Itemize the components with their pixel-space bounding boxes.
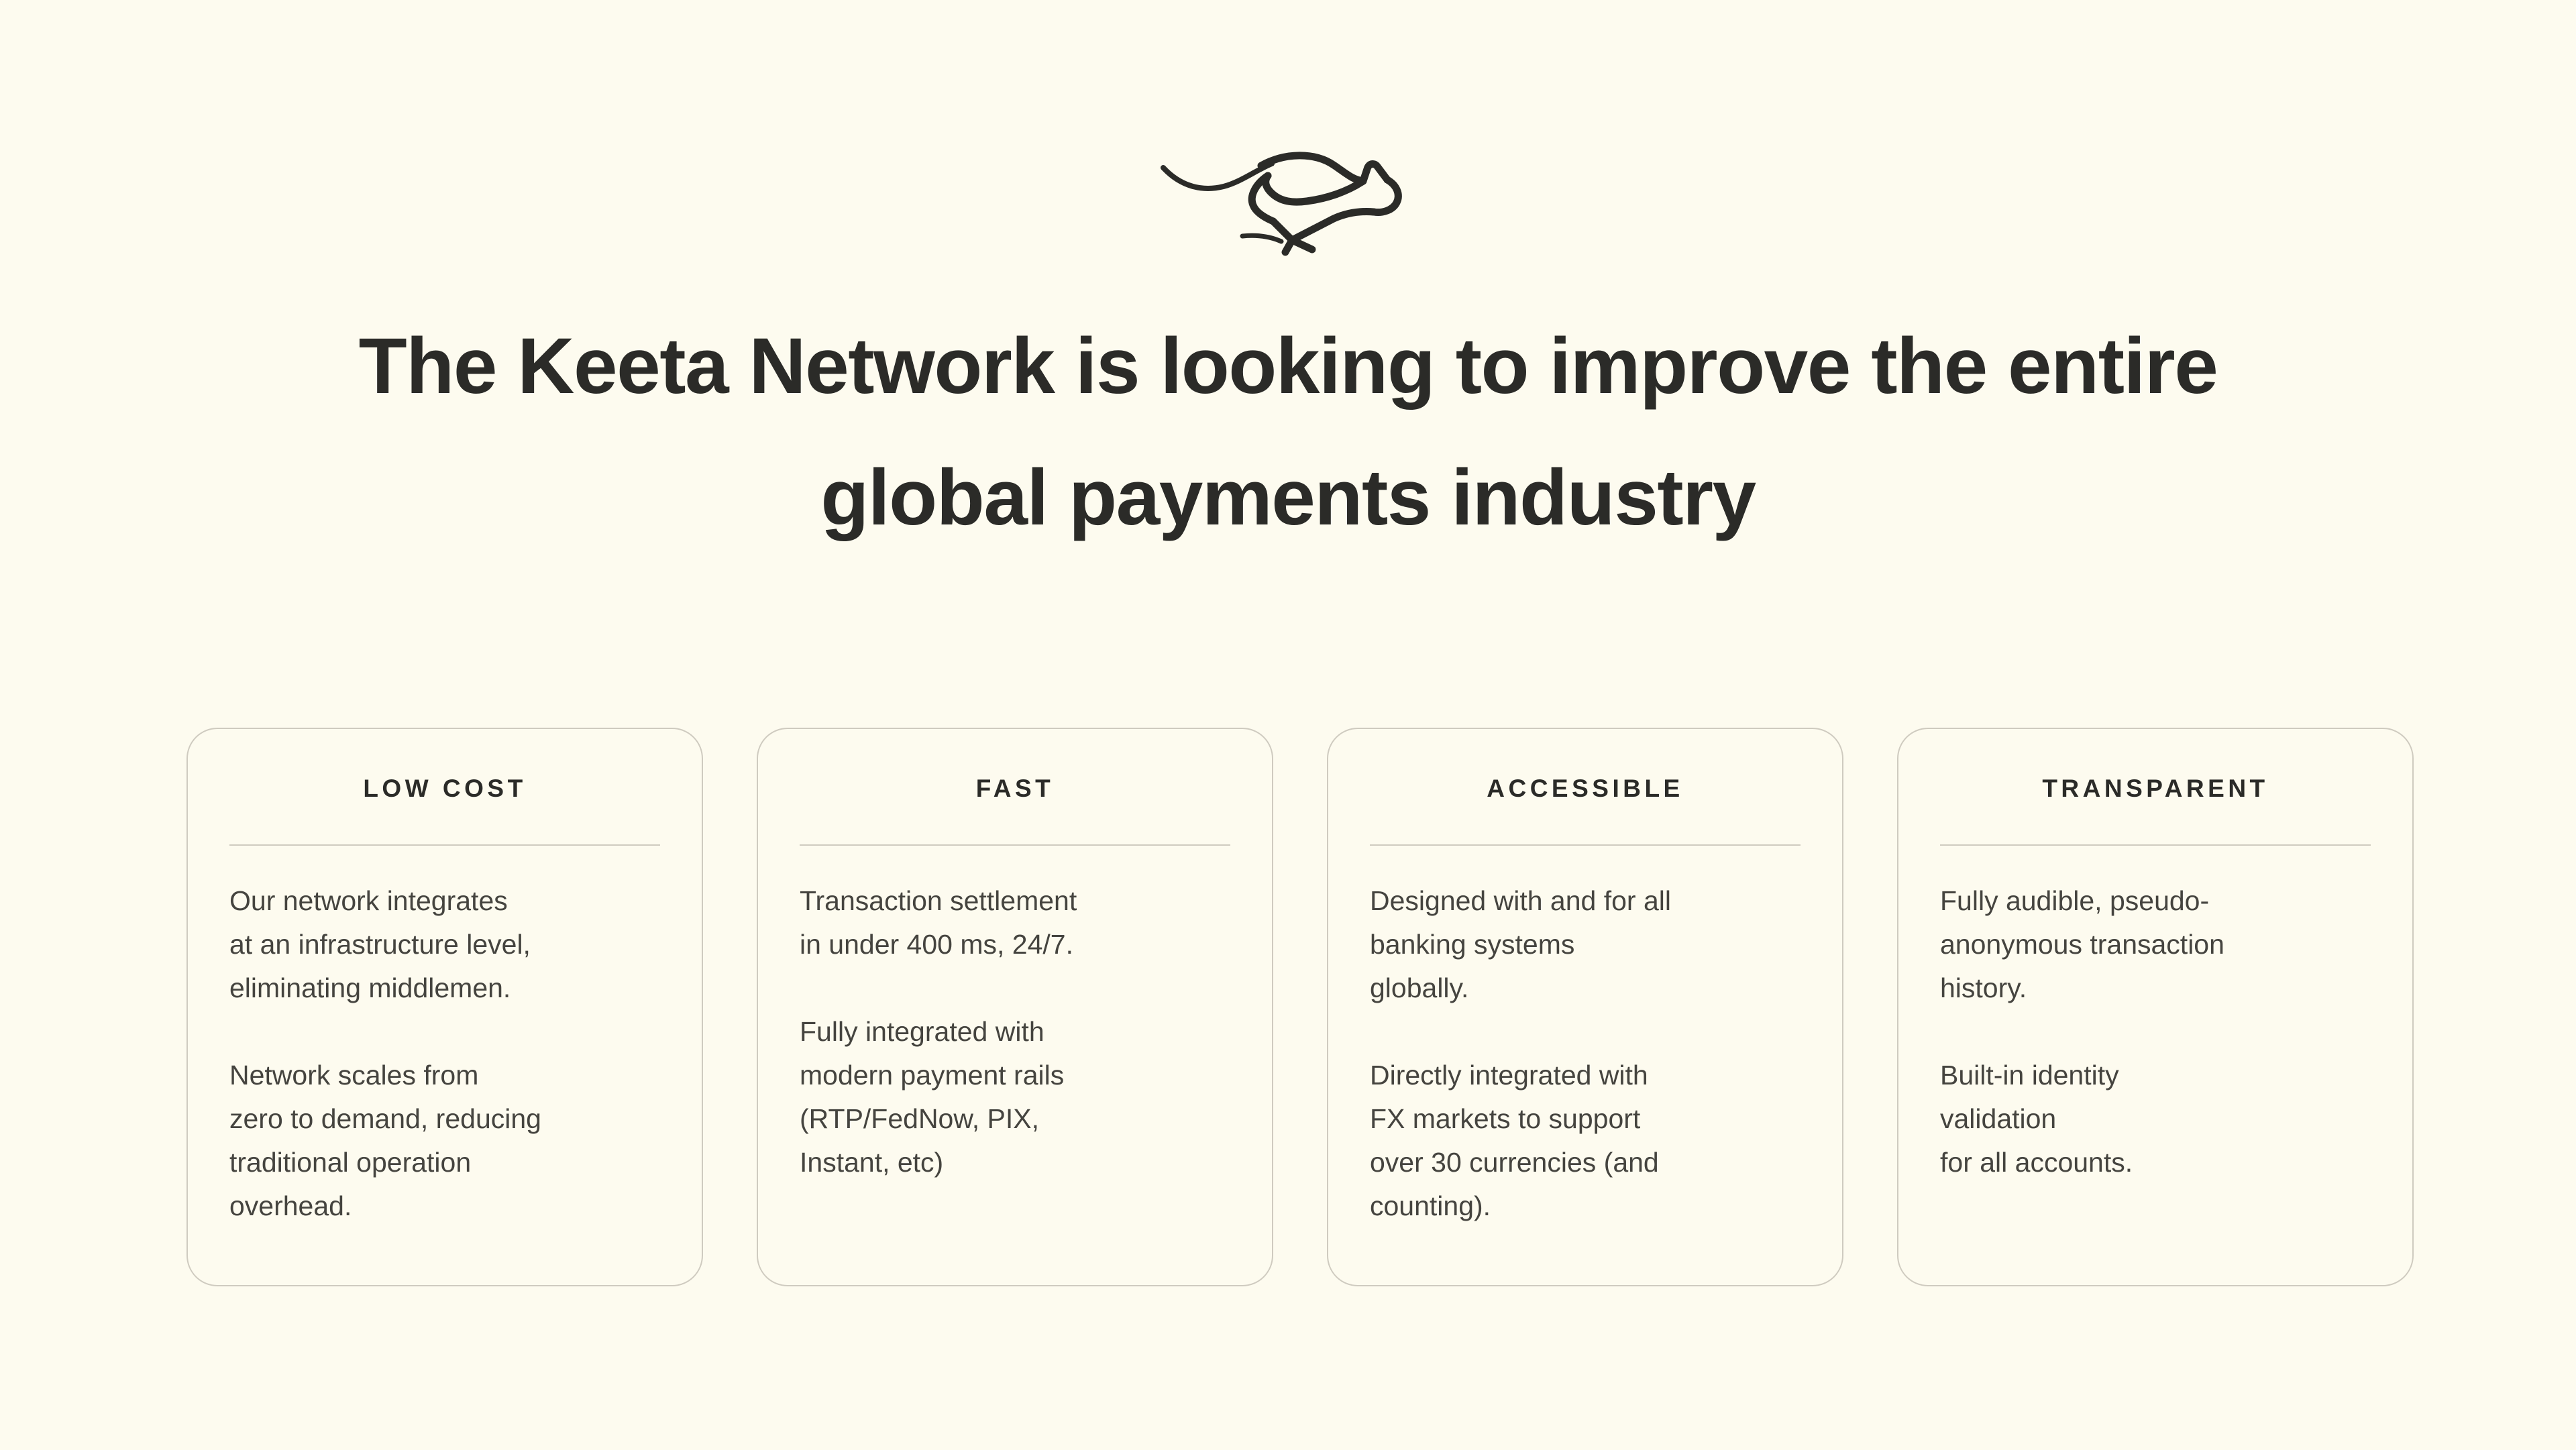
- feature-card-title: LOW COST: [229, 769, 660, 804]
- card-paragraph: Network scales from zero to demand, redu…: [229, 1054, 660, 1228]
- page-title: The Keeta Network is looking to improve …: [0, 300, 2576, 563]
- keeta-cheetah-logo-icon: [1154, 134, 1422, 262]
- card-paragraph: Designed with and for all banking system…: [1370, 879, 1801, 1010]
- feature-card-body: Fully audible, pseudo- anonymous transac…: [1940, 879, 2371, 1184]
- card-paragraph: Our network integrates at an infrastruct…: [229, 879, 660, 1010]
- feature-card-title: ACCESSIBLE: [1370, 769, 1801, 804]
- feature-card-transparent: TRANSPARENT Fully audible, pseudo- anony…: [1897, 728, 2414, 1286]
- card-divider: [1370, 844, 1801, 846]
- card-divider: [229, 844, 660, 846]
- card-paragraph: Fully integrated with modern payment rai…: [800, 1010, 1230, 1184]
- feature-card-body: Our network integrates at an infrastruct…: [229, 879, 660, 1228]
- feature-card-grid: LOW COST Our network integrates at an in…: [186, 728, 2414, 1286]
- feature-card-low-cost: LOW COST Our network integrates at an in…: [186, 728, 703, 1286]
- feature-card-fast: FAST Transaction settlement in under 400…: [757, 728, 1273, 1286]
- headline-line-2: global payments industry: [0, 432, 2576, 563]
- card-paragraph: Built-in identity validation for all acc…: [1940, 1054, 2371, 1184]
- card-divider: [800, 844, 1230, 846]
- feature-card-title: TRANSPARENT: [1940, 769, 2371, 804]
- feature-card-body: Transaction settlement in under 400 ms, …: [800, 879, 1230, 1184]
- feature-card-body: Designed with and for all banking system…: [1370, 879, 1801, 1228]
- card-paragraph: Fully audible, pseudo- anonymous transac…: [1940, 879, 2371, 1010]
- feature-card-title: FAST: [800, 769, 1230, 804]
- headline-line-1: The Keeta Network is looking to improve …: [0, 300, 2576, 432]
- brand-logo: [0, 134, 2576, 262]
- card-divider: [1940, 844, 2371, 846]
- marketing-section: The Keeta Network is looking to improve …: [0, 0, 2576, 1450]
- feature-card-accessible: ACCESSIBLE Designed with and for all ban…: [1327, 728, 1843, 1286]
- card-paragraph: Directly integrated with FX markets to s…: [1370, 1054, 1801, 1228]
- card-paragraph: Transaction settlement in under 400 ms, …: [800, 879, 1230, 966]
